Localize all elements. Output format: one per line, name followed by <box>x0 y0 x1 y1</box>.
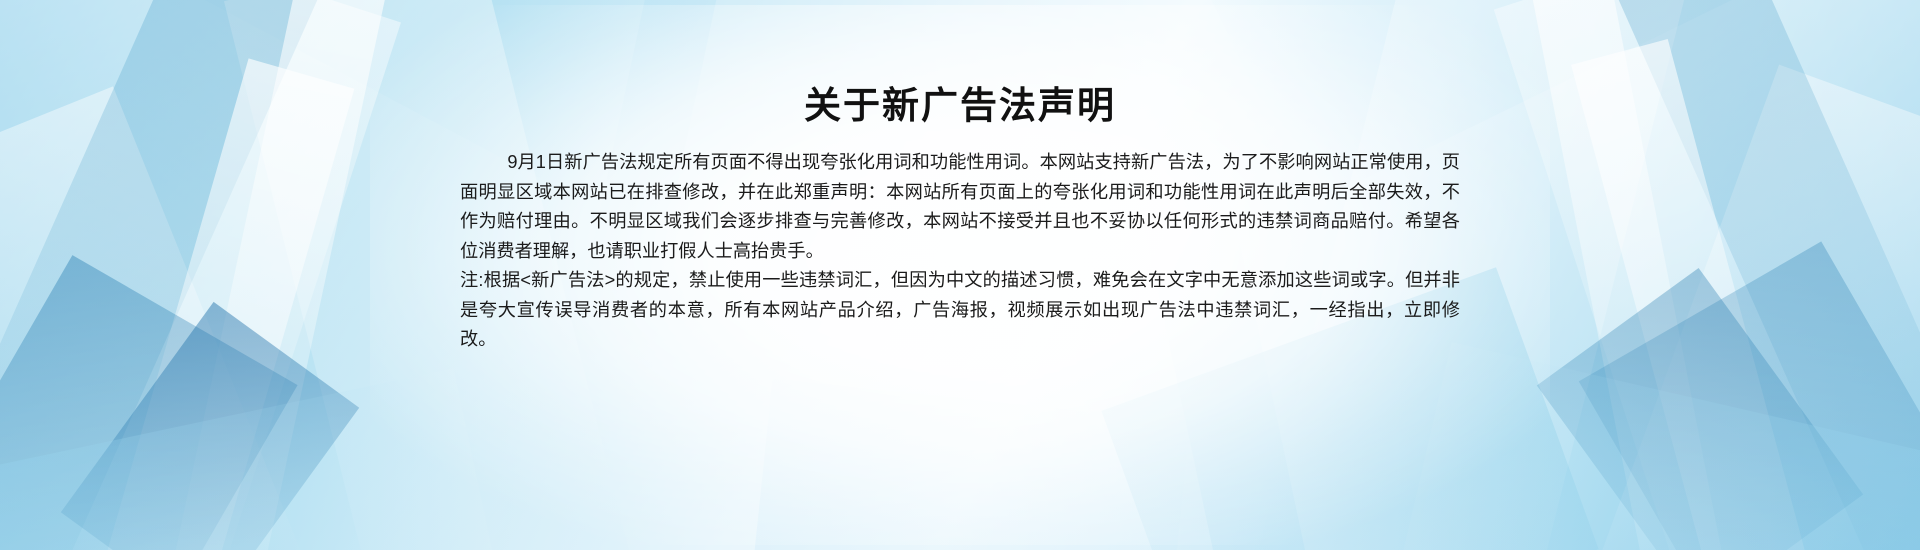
statement-body: 9月1日新广告法规定所有页面不得出现夸张化用词和功能性用词。本网站支持新广告法，… <box>460 148 1460 355</box>
advertising-law-disclaimer-banner: 关于新广告法声明 9月1日新广告法规定所有页面不得出现夸张化用词和功能性用词。本… <box>0 0 1920 550</box>
page-title: 关于新广告法声明 <box>460 84 1460 128</box>
statement-paragraph-1: 9月1日新广告法规定所有页面不得出现夸张化用词和功能性用词。本网站支持新广告法，… <box>460 148 1460 266</box>
statement-paragraph-2: 注:根据<新广告法>的规定，禁止使用一些违禁词汇，但因为中文的描述习惯，难免会在… <box>460 266 1460 355</box>
statement-content: 关于新广告法声明 9月1日新广告法规定所有页面不得出现夸张化用词和功能性用词。本… <box>460 0 1460 550</box>
